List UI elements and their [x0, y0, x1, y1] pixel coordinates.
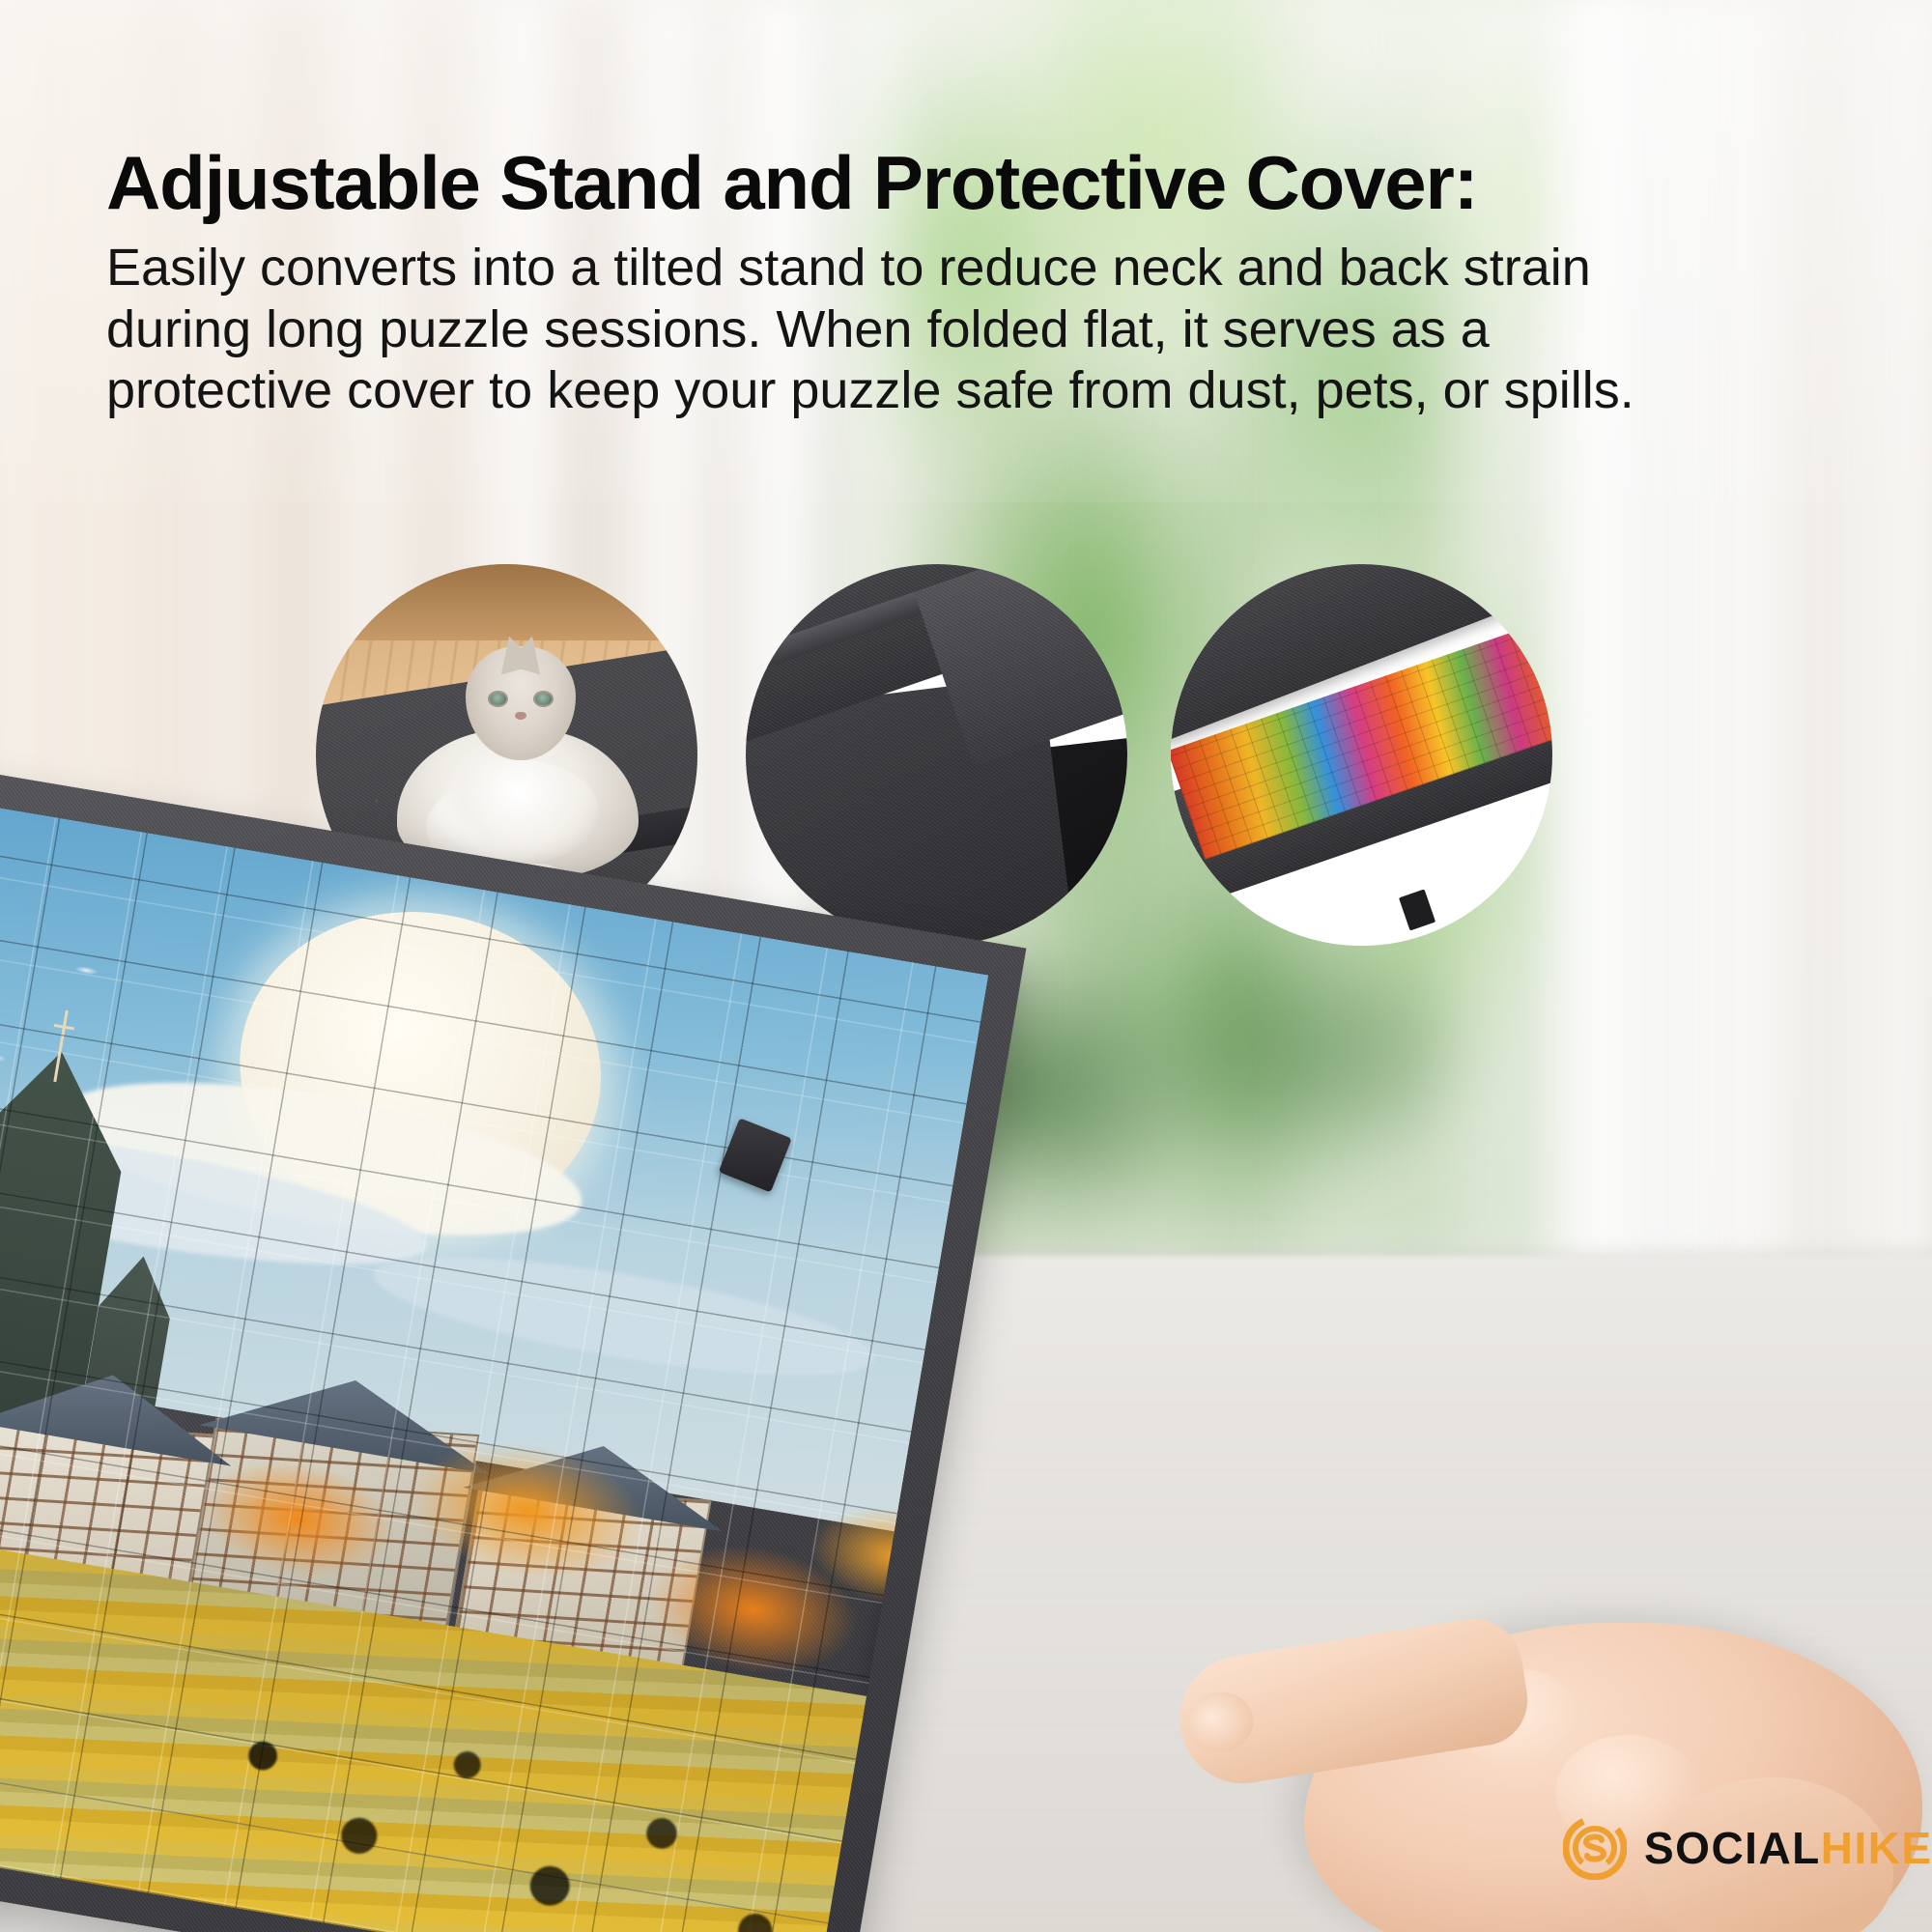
brand-name-primary: SOCIAL: [1644, 1826, 1821, 1870]
spiral-s-logo-icon: [1563, 1816, 1627, 1880]
cat-chest-ruff: [438, 760, 599, 864]
feature-circle-cover-over-puzzle: [1171, 564, 1552, 946]
cat-nose: [515, 712, 526, 720]
felt-mat-frame: [0, 736, 1026, 1932]
cat-eye-left: [490, 693, 506, 705]
cat-illustration: [392, 625, 644, 885]
brand-wordmark: SOCIAL HIKE ®: [1644, 1826, 1932, 1870]
marketing-image-canvas: Adjustable Stand and Protective Cover: E…: [0, 0, 1932, 1932]
brand-logo: SOCIAL HIKE ®: [1563, 1816, 1932, 1880]
tilted-board: [0, 736, 1151, 1932]
brand-name-secondary: HIKE: [1821, 1826, 1932, 1870]
hero-puzzle-board: [0, 869, 1082, 1932]
cat-eye-right: [535, 693, 552, 705]
puzzle-surface: [0, 774, 988, 1932]
